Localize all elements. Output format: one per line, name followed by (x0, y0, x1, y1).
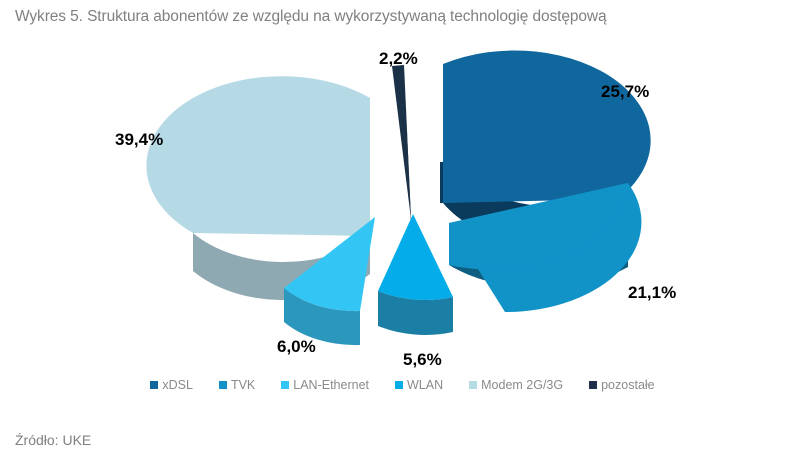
pie-slice-wlan-top (378, 214, 453, 300)
legend-item-xdsl[interactable]: xDSL (150, 378, 193, 392)
legend-item-tvk[interactable]: TVK (219, 378, 255, 392)
legend-label: pozostałe (601, 378, 655, 392)
legend-swatch-icon (469, 381, 477, 389)
pie-slice-lan-ethernet[interactable] (284, 217, 375, 345)
pie-slice-xdsl-top (443, 50, 651, 203)
pie-slice-xdsl-side-left (440, 162, 443, 203)
legend-item-modem-2g-3g[interactable]: Modem 2G/3G (469, 378, 563, 392)
legend-label: xDSL (162, 378, 193, 392)
legend-label: TVK (231, 378, 255, 392)
pie-slice-pozostale-top (392, 65, 411, 219)
data-label-tvk: 21,1% (628, 283, 676, 303)
legend-swatch-icon (395, 381, 403, 389)
legend-swatch-icon (281, 381, 289, 389)
chart-plot-area: 25,7% 21,1% 6,0% 5,6% 39,4% 2,2% (0, 40, 805, 370)
pie-slice-modem-2g-3g-top (146, 76, 370, 236)
data-label-pozostale: 2,2% (379, 49, 418, 69)
data-label-wlan: 5,6% (403, 350, 442, 370)
data-label-xdsl: 25,7% (601, 82, 649, 102)
pie-chart-svg (0, 40, 805, 370)
legend-swatch-icon (150, 381, 158, 389)
pie-slice-pozostale[interactable] (392, 65, 411, 226)
data-label-lan-ethernet: 6,0% (277, 337, 316, 357)
legend-label: LAN-Ethernet (293, 378, 369, 392)
pie-slice-wlan[interactable] (378, 214, 453, 335)
legend-item-lan-ethernet[interactable]: LAN-Ethernet (281, 378, 369, 392)
chart-legend: xDSL TVK LAN-Ethernet WLAN Modem 2G/3G p… (0, 378, 805, 392)
legend-label: Modem 2G/3G (481, 378, 563, 392)
legend-swatch-icon (219, 381, 227, 389)
legend-item-wlan[interactable]: WLAN (395, 378, 443, 392)
legend-label: WLAN (407, 378, 443, 392)
source-note: Źródło: UKE (15, 432, 91, 448)
legend-item-pozostale[interactable]: pozostałe (589, 378, 655, 392)
legend-swatch-icon (589, 381, 597, 389)
data-label-modem-2g-3g: 39,4% (115, 130, 163, 150)
page-title: Wykres 5. Struktura abonentów ze względu… (15, 8, 607, 26)
